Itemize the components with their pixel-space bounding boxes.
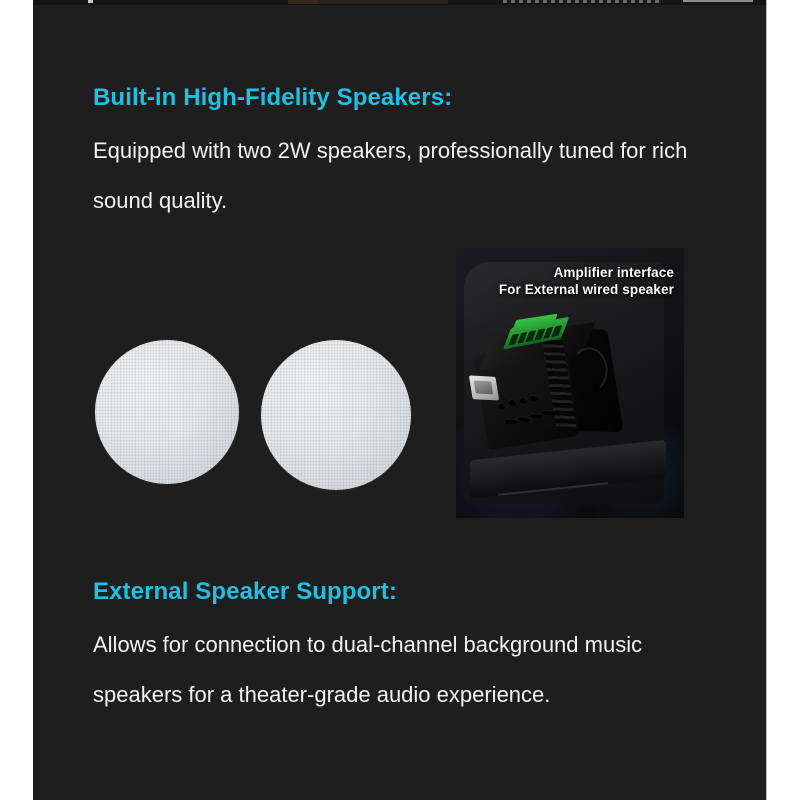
vent-hole (519, 397, 527, 404)
sliver-segment-dot (88, 0, 93, 3)
amplifier-module (472, 320, 625, 458)
page-root: Built-in High-Fidelity Speakers: Equippe… (0, 0, 800, 800)
section-heading-external-speaker: External Speaker Support: (93, 578, 397, 606)
photo-caption: Amplifier interface For External wired s… (499, 264, 674, 298)
previous-section-sliver (33, 0, 766, 5)
content-panel: Built-in High-Fidelity Speakers: Equippe… (33, 0, 767, 800)
photo-caption-line-1: Amplifier interface (499, 264, 674, 281)
vent-hole (508, 399, 516, 406)
amplifier-interface-photo: Amplifier interface For External wired s… (456, 248, 684, 518)
vent-slot (529, 413, 543, 419)
sliver-segment-dark (318, 0, 448, 4)
speaker-grille-left (95, 340, 239, 484)
vent-hole (497, 402, 505, 409)
section-heading-builtin-speakers: Built-in High-Fidelity Speakers: (93, 84, 452, 112)
sliver-segment-bar (683, 0, 753, 2)
vent-slot (542, 410, 556, 416)
section-body-external-speaker: Allows for connection to dual-channel ba… (93, 620, 723, 720)
sliver-segment-dashed (503, 0, 663, 3)
vent-slot (504, 418, 518, 424)
photo-caption-line-2: For External wired speaker (499, 281, 674, 298)
speaker-grille-right (261, 340, 411, 490)
section-body-builtin-speakers: Equipped with two 2W speakers, professio… (93, 126, 713, 226)
vent-slot (517, 416, 531, 422)
module-vent-group (494, 394, 560, 439)
ethernet-port-opening (474, 381, 493, 395)
